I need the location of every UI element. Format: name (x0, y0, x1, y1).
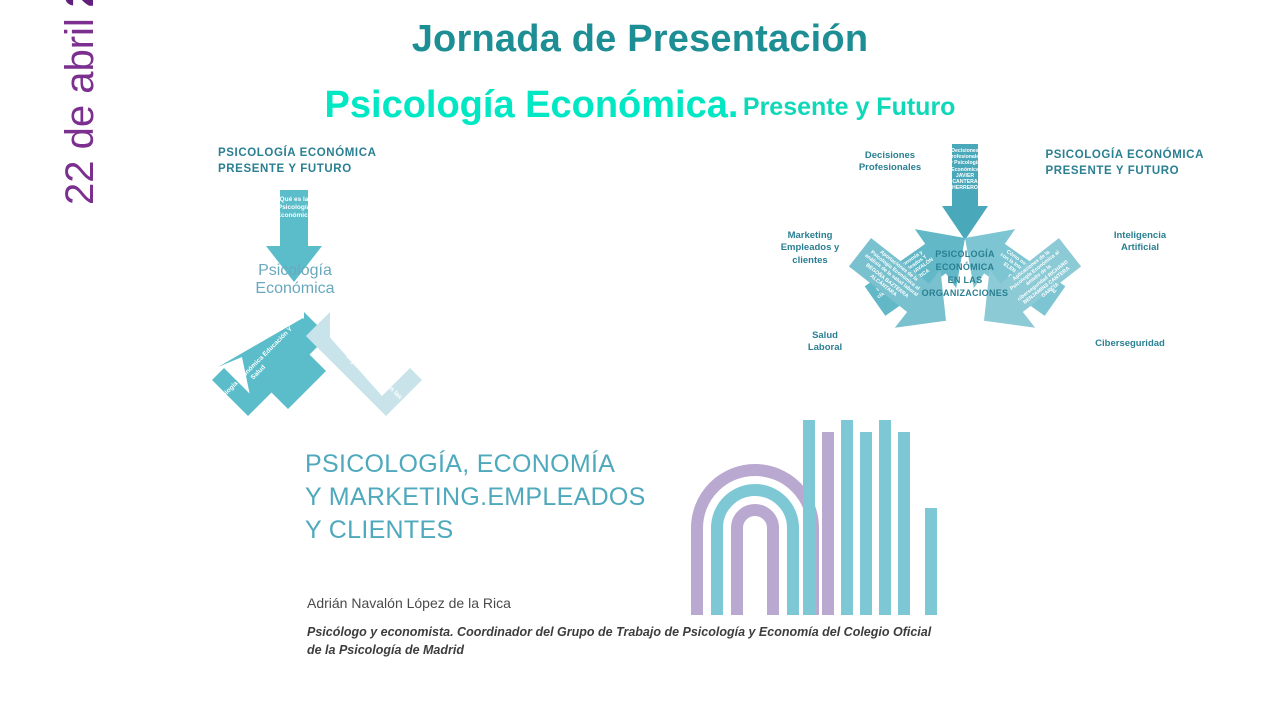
bottom-slide-title: PSICOLOGÍA, ECONOMÍA Y MARKETING.EMPLEAD… (305, 448, 646, 547)
date-day-month: 22 de abril (58, 7, 102, 205)
copm-logo (685, 420, 950, 615)
page-title-line2: Psicología Económica. Presente y Futuro (0, 84, 1280, 127)
slide-thumb-right[interactable]: PSICOLOGÍA ECONÓMICA PRESENTE Y FUTURO D… (760, 140, 1220, 420)
page-title-main: Psicología Económica. (325, 84, 739, 126)
outer-label-salud: Salud Laboral (780, 330, 870, 355)
outer-label-ia: Inteligencia Artificial (1090, 230, 1190, 255)
center-node-line2: Económica (255, 280, 334, 297)
page-subtitle: Presente y Futuro (743, 93, 956, 121)
bottom-slide-author: Adrián Navalón López de la Rica (307, 595, 511, 611)
page-title-line1: Jornada de Presentación (0, 18, 1280, 61)
center-node-line1: Psicología (258, 262, 332, 279)
outer-label-marketing: Marketing Empleados y clientes (760, 230, 860, 267)
date-label: 22 de abril 2025 (58, 0, 103, 205)
center-node-label: Psicología Económica (240, 262, 350, 299)
outer-label-decisiones: Decisiones Profesionales (840, 150, 940, 175)
arrow-up-right-icon: Psicología Económica en las organizacion… (306, 310, 426, 420)
date-year: 2025 (58, 0, 102, 7)
slide-thumb-left[interactable]: PSICOLOGÍA ECONÓMICA PRESENTE Y FUTURO Q… (200, 140, 620, 420)
spoke-label-decisiones: Decisiones Profesionales y Psicología Ec… (946, 148, 984, 192)
slide-right-header: PSICOLOGÍA ECONÓMICA PRESENTE Y FUTURO (1045, 148, 1204, 179)
center-label-organizaciones: PSICOLOGÍA ECONÓMICA EN LAS ORGANIZACION… (910, 248, 1020, 300)
bottom-slide-role: Psicólogo y economista. Coordinador del … (307, 623, 947, 659)
slide-left-header: PSICOLOGÍA ECONÓMICA PRESENTE Y FUTURO (218, 146, 377, 177)
outer-label-ciberseguridad: Ciberseguridad (1070, 338, 1190, 350)
arrow-down-label: Qué es la Psicología Económica (272, 196, 316, 220)
